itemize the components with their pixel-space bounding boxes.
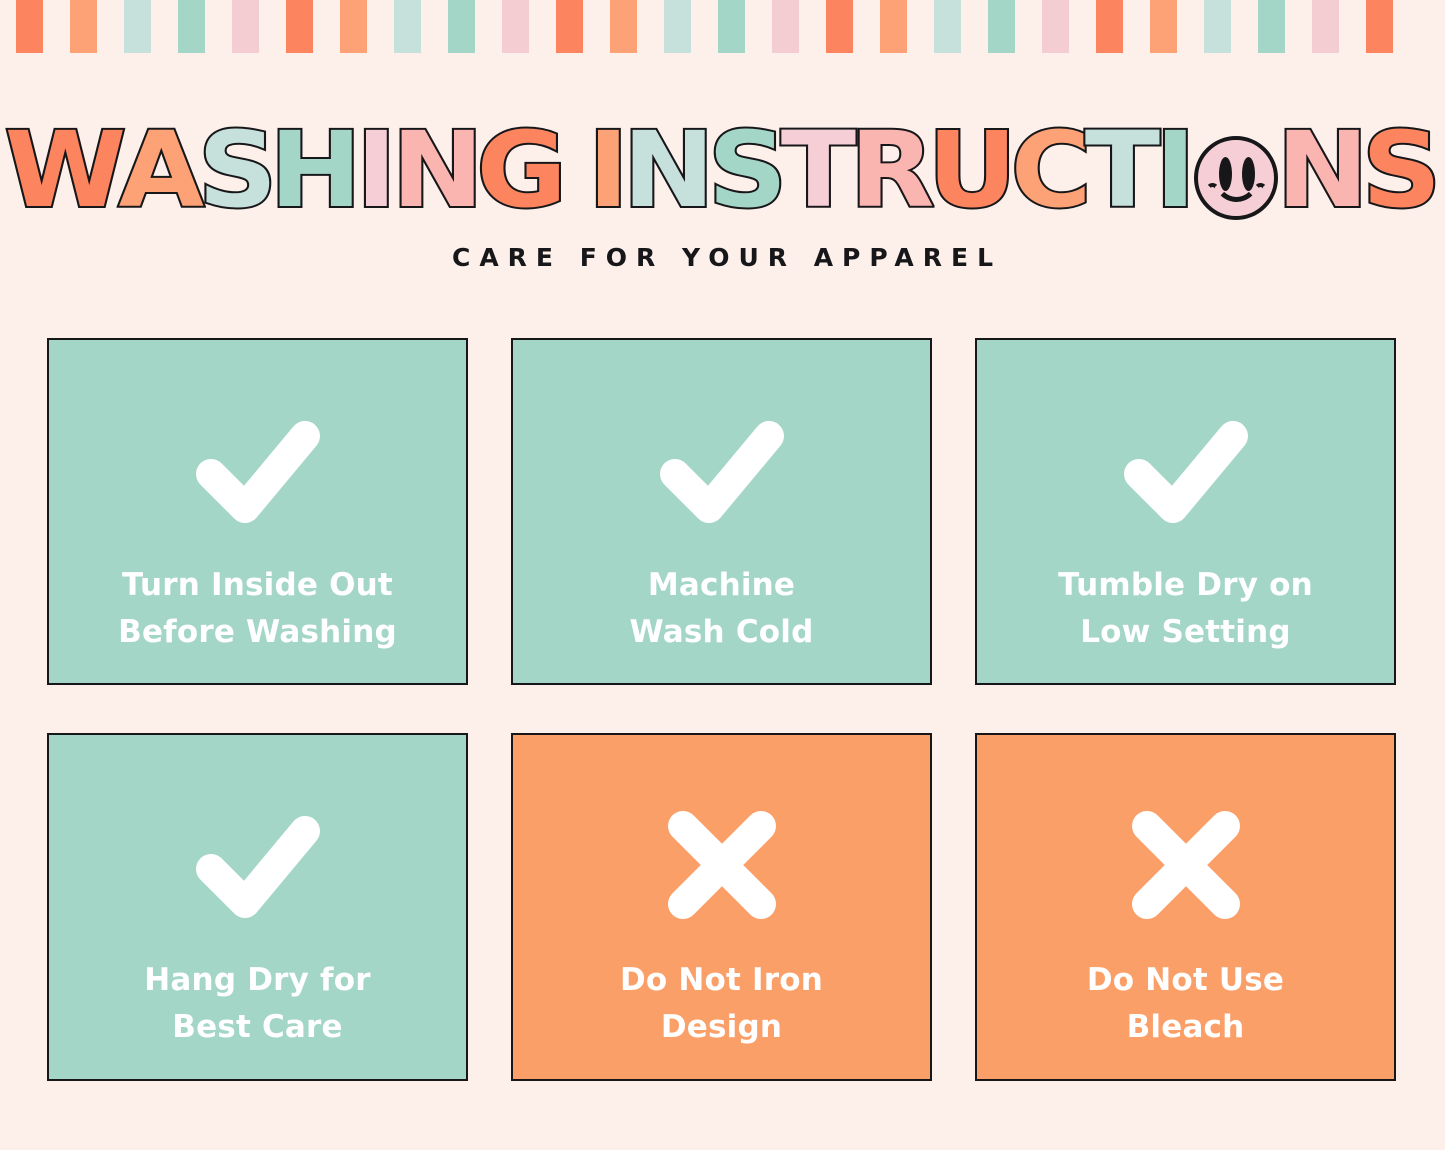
stripe-gap (1069, 0, 1096, 53)
stripe (988, 0, 1015, 53)
title-letter: H (270, 118, 360, 222)
stripe-gap (745, 0, 772, 53)
instruction-card-machine-wash-cold: MachineWash Cold (511, 338, 932, 685)
stripe (664, 0, 691, 53)
title-letter: A (119, 118, 202, 222)
page-title: WASHINGINSTRUCTINS (0, 118, 1445, 222)
stripe-gap (367, 0, 394, 53)
stripe-gap (421, 0, 448, 53)
stripe (1258, 0, 1285, 53)
x-icon (656, 807, 788, 923)
instruction-card-label: Do Not UseBleach (1087, 957, 1284, 1051)
stripe (502, 0, 529, 53)
stripe-gap (853, 0, 880, 53)
stripe-gap (529, 0, 556, 53)
stripe-gap (637, 0, 664, 53)
stripe (772, 0, 799, 53)
card-line-1: Do Not Iron (620, 957, 823, 1004)
card-line-2: Design (620, 1004, 823, 1051)
stripe-gap (583, 0, 610, 53)
stripe (448, 0, 475, 53)
title-letter: N (1276, 118, 1366, 222)
instruction-card-label: Do Not IronDesign (620, 957, 823, 1051)
decorative-stripe-band (0, 0, 1445, 53)
check-icon (192, 807, 324, 923)
stripe (718, 0, 745, 53)
title-letter: N (392, 118, 482, 222)
stripe (394, 0, 421, 53)
title-letter: R (850, 118, 933, 222)
stripe-gap (691, 0, 718, 53)
title-letter: S (197, 118, 274, 222)
stripe-gap (43, 0, 70, 53)
stripe (1042, 0, 1069, 53)
check-icon (192, 412, 324, 528)
title-letter: I (356, 118, 395, 222)
instruction-card-do-not-iron: Do Not IronDesign (511, 733, 932, 1081)
stripe-gap (151, 0, 178, 53)
instruction-card-tumble-dry-low: Tumble Dry onLow Setting (975, 338, 1396, 685)
instruction-card-label: Tumble Dry onLow Setting (1058, 562, 1313, 656)
title-letter: T (1085, 118, 1158, 222)
title-letter: U (928, 118, 1015, 222)
stripe-gap (961, 0, 988, 53)
stripe (124, 0, 151, 53)
stripe-gap (799, 0, 826, 53)
stripe (1312, 0, 1339, 53)
instruction-card-do-not-bleach: Do Not UseBleach (975, 733, 1396, 1081)
card-line-2: Before Washing (118, 609, 397, 656)
stripe-gap (97, 0, 124, 53)
title-letter: G (477, 118, 565, 222)
title-letter: S (1362, 118, 1439, 222)
title-letter: W (5, 118, 124, 222)
title-letter: I (587, 118, 626, 222)
stripe-gap (205, 0, 232, 53)
title-letter: S (708, 118, 785, 222)
title-letter: N (623, 118, 713, 222)
stripe (610, 0, 637, 53)
stripe (880, 0, 907, 53)
stripe (1096, 0, 1123, 53)
stripe (1150, 0, 1177, 53)
check-icon (656, 412, 788, 528)
stripe-gap (1015, 0, 1042, 53)
card-line-1: Do Not Use (1087, 957, 1284, 1004)
instruction-card-label: Hang Dry forBest Care (144, 957, 370, 1051)
stripe (178, 0, 205, 53)
stripe (826, 0, 853, 53)
stripe (70, 0, 97, 53)
stripe-gap (1285, 0, 1312, 53)
stripe-gap (475, 0, 502, 53)
title-letter: T (781, 118, 854, 222)
card-line-2: Wash Cold (630, 609, 814, 656)
card-line-2: Low Setting (1058, 609, 1313, 656)
card-line-1: Hang Dry for (144, 957, 370, 1004)
instruction-card-turn-inside-out: Turn Inside OutBefore Washing (47, 338, 468, 685)
instruction-card-label: MachineWash Cold (630, 562, 814, 656)
stripe (16, 0, 43, 53)
stripe (340, 0, 367, 53)
stripe-gap (1339, 0, 1366, 53)
check-icon (1120, 412, 1252, 528)
stripe (556, 0, 583, 53)
instruction-card-grid: Turn Inside OutBefore WashingMachineWash… (47, 338, 1398, 1081)
title-letters: WASHINGINSTRUCTINS (8, 118, 1436, 222)
stripe (1204, 0, 1231, 53)
card-line-2: Bleach (1087, 1004, 1284, 1051)
page-subtitle: CARE FOR YOUR APPAREL (0, 243, 1445, 272)
stripe-gap (1231, 0, 1258, 53)
stripe-gap (1177, 0, 1204, 53)
card-line-1: Turn Inside Out (118, 562, 397, 609)
title-letter: I (1155, 118, 1194, 222)
stripe (1366, 0, 1393, 53)
card-line-1: Machine (630, 562, 814, 609)
stripe-gap (907, 0, 934, 53)
x-icon (1120, 807, 1252, 923)
stripe (934, 0, 961, 53)
smiley-face-icon (1194, 136, 1278, 220)
stripe (286, 0, 313, 53)
stripe-gap (313, 0, 340, 53)
stripe-gap (259, 0, 286, 53)
title-letter: C (1011, 118, 1090, 222)
stripe-gap (1123, 0, 1150, 53)
stripe-gap (0, 0, 16, 53)
card-line-2: Best Care (144, 1004, 370, 1051)
poster-root: WASHINGINSTRUCTINS CARE FOR YOUR APPAREL… (0, 0, 1445, 1150)
card-line-1: Tumble Dry on (1058, 562, 1313, 609)
instruction-card-label: Turn Inside OutBefore Washing (118, 562, 397, 656)
instruction-card-hang-dry: Hang Dry forBest Care (47, 733, 468, 1081)
stripe (232, 0, 259, 53)
smiley-mouth (1214, 168, 1259, 202)
